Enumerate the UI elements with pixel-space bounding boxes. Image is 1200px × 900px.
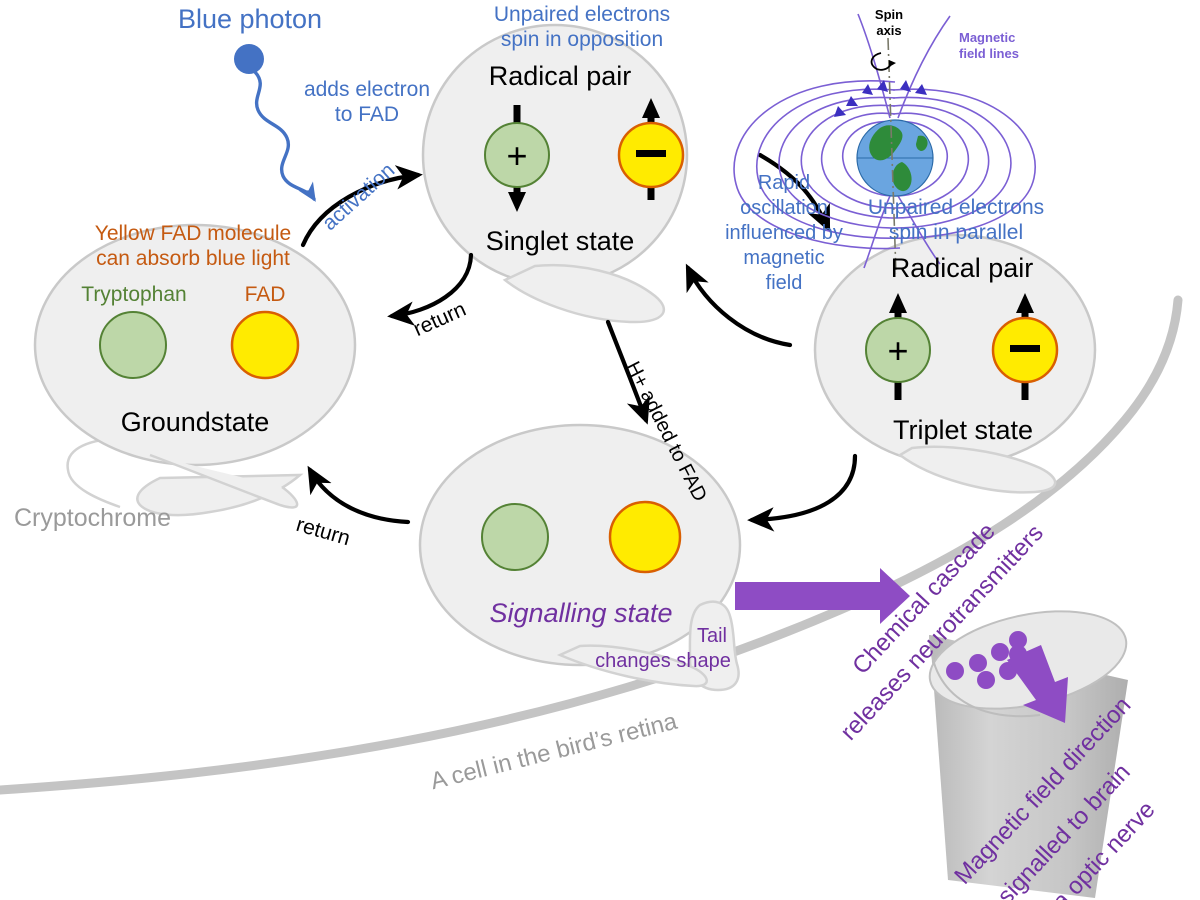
photon-dot: [234, 44, 264, 74]
groundstate-note-line2: can absorb blue light: [78, 247, 308, 271]
molecule-fad-signalling: [610, 502, 680, 572]
groundstate-note-line1: Yellow FAD molecule: [78, 222, 308, 246]
singlet-note-line2: spin in opposition: [467, 28, 697, 52]
molecule-tryptophan-signalling: [482, 504, 548, 570]
arrow-triplet-to-signalling: [752, 456, 855, 520]
triplet-note-line2: spin in parallel: [837, 221, 1075, 245]
singlet-state-label: Singlet state: [450, 226, 670, 256]
oscillation-line1: Rapid: [722, 172, 846, 194]
molecule-fad-groundstate: [232, 312, 298, 378]
oscillation-line2: oscillation: [714, 197, 854, 219]
spin-axis-line1: Spin: [862, 8, 916, 23]
singlet-pair-label: Radical pair: [455, 61, 665, 91]
tail-note-line1: Tail: [681, 625, 743, 647]
cryptochrome-label: Cryptochrome: [14, 504, 171, 532]
singlet-note-line1: Unpaired electrons: [467, 3, 697, 27]
field-lines-line2: field lines: [959, 47, 1019, 62]
tail-note-line2: changes shape: [578, 650, 748, 672]
magnetoreception-diagram: + +: [0, 0, 1200, 900]
spin-axis-line2: axis: [862, 24, 916, 39]
groundstate-fad-label: FAD: [218, 283, 312, 307]
triplet-note-line1: Unpaired electrons: [837, 196, 1075, 220]
groundstate-tryptophan-label: Tryptophan: [63, 283, 205, 307]
oscillation-line4: magnetic: [714, 247, 854, 269]
signalling-state-label: Signalling state: [470, 598, 692, 628]
field-lines-line1: Magnetic: [959, 31, 1015, 46]
triplet-state-label: Triplet state: [858, 415, 1068, 445]
molecule-tryptophan-groundstate: [100, 312, 166, 378]
oscillation-line5: field: [722, 272, 846, 294]
groundstate-state-label: Groundstate: [85, 407, 305, 437]
photon-title: Blue photon: [160, 4, 340, 34]
photon-arrow-label-line1: adds electron: [282, 78, 452, 102]
svg-text:+: +: [887, 330, 908, 371]
arrow-return-bottom: [310, 470, 408, 522]
svg-text:+: +: [506, 135, 527, 176]
photon-arrow-label-line2: to FAD: [282, 103, 452, 127]
triplet-pair-label: Radical pair: [857, 253, 1067, 283]
diagram-canvas: + +: [0, 0, 1200, 900]
